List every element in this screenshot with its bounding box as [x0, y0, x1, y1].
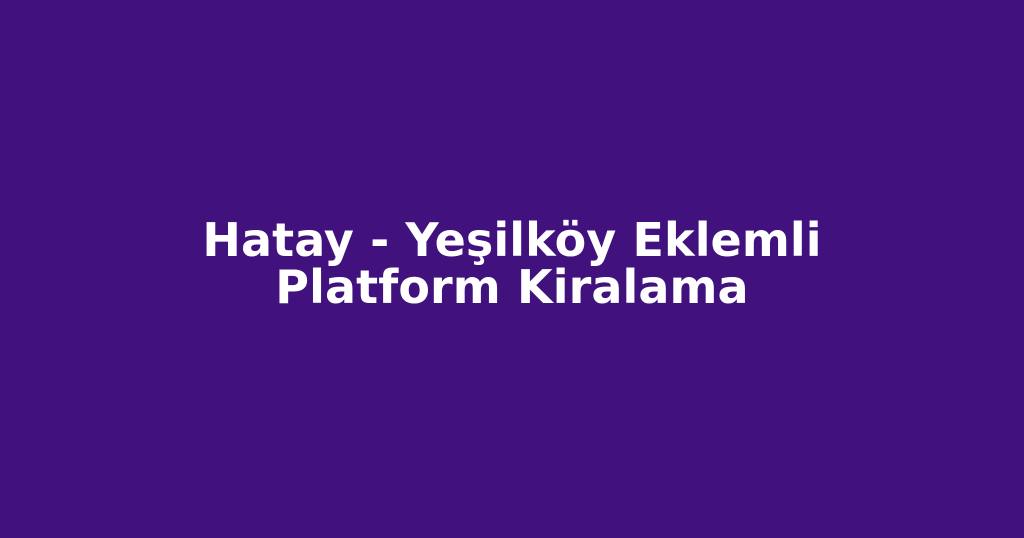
promo-banner: Hatay - Yeşilköy Eklemli Platform Kirala… — [0, 0, 1024, 538]
banner-content: Hatay - Yeşilköy Eklemli Platform Kirala… — [0, 217, 1024, 311]
page-title: Hatay - Yeşilköy Eklemli Platform Kirala… — [141, 217, 883, 311]
